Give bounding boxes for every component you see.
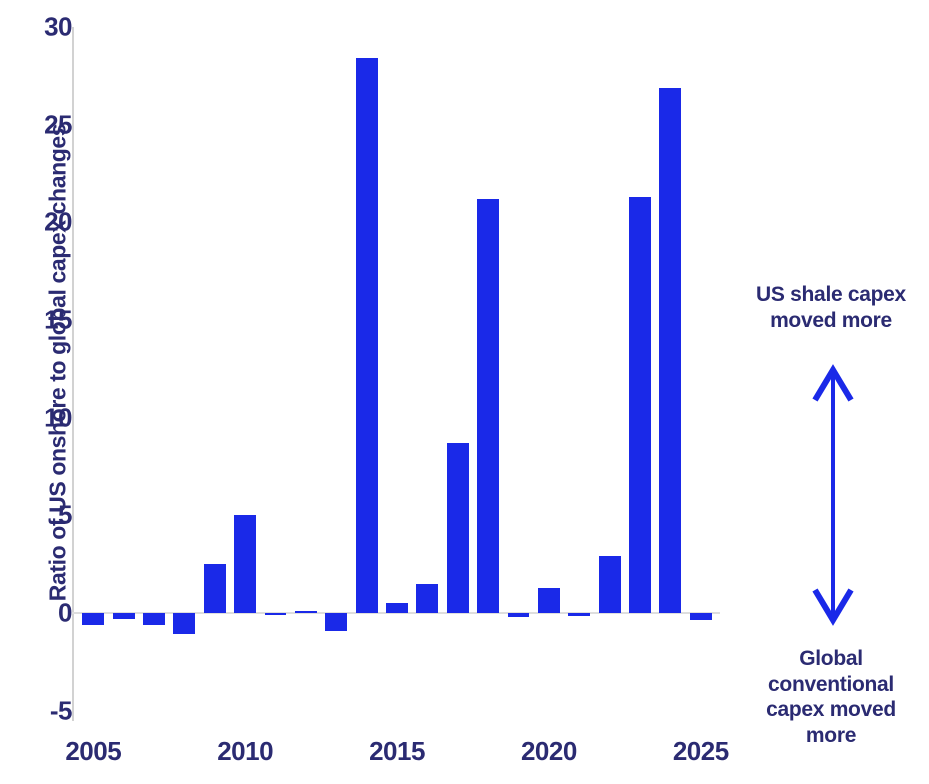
bar-2011 (265, 613, 287, 615)
bar-2005 (82, 613, 104, 625)
y-tick-15: 15 (18, 305, 72, 336)
bar-2006 (113, 613, 135, 619)
bar-2017 (447, 443, 469, 613)
annotation-global-line4: more (742, 723, 920, 749)
bar-2012 (295, 611, 317, 613)
bar-2010 (234, 515, 256, 613)
bar-2015 (386, 603, 408, 613)
bar-2025 (690, 613, 712, 620)
annotation-us-shale-line2: moved more (735, 308, 927, 334)
bar-2021 (568, 613, 590, 616)
y-tick-5: 5 (18, 500, 72, 531)
y-tick-10: 10 (18, 402, 72, 433)
x-tick-2020: 2020 (521, 736, 577, 767)
y-tick-neg5: -5 (18, 695, 72, 726)
bar-2007 (143, 613, 165, 625)
annotation-global-line1: Global (742, 646, 920, 672)
y-tick-20: 20 (18, 207, 72, 238)
bar-2013 (325, 613, 347, 631)
y-tick-0: 0 (18, 598, 72, 629)
annotation-global-line3: capex moved (742, 697, 920, 723)
annotation-us-shale-line1: US shale capex (735, 282, 927, 308)
annotation-global-line2: conventional (742, 672, 920, 698)
x-tick-2005: 2005 (65, 736, 121, 767)
bar-2016 (416, 584, 438, 613)
bar-2024 (659, 88, 681, 613)
bar-2018 (477, 199, 499, 613)
y-axis-line (72, 27, 74, 721)
y-tick-25: 25 (18, 109, 72, 140)
bar-2023 (629, 197, 651, 613)
x-tick-2010: 2010 (217, 736, 273, 767)
x-tick-2015: 2015 (369, 736, 425, 767)
bar-2020 (538, 588, 560, 613)
annotation-global-conventional: Global conventional capex moved more (742, 646, 920, 748)
double-arrow-icon (805, 362, 861, 628)
bar-2009 (204, 564, 226, 613)
y-tick-labels: 302520151050-5 (10, 20, 72, 720)
bar-2022 (599, 556, 621, 613)
bar-2014 (356, 58, 378, 613)
chart-figure: Ratio of US onshore to global capex chan… (0, 0, 929, 784)
bar-2008 (173, 613, 195, 634)
plot-area: 302520151050-5 20052010201520202025 (72, 20, 722, 720)
bar-2019 (508, 613, 530, 617)
y-tick-30: 30 (18, 12, 72, 43)
x-tick-2025: 2025 (673, 736, 729, 767)
annotation-us-shale: US shale capex moved more (735, 282, 927, 333)
